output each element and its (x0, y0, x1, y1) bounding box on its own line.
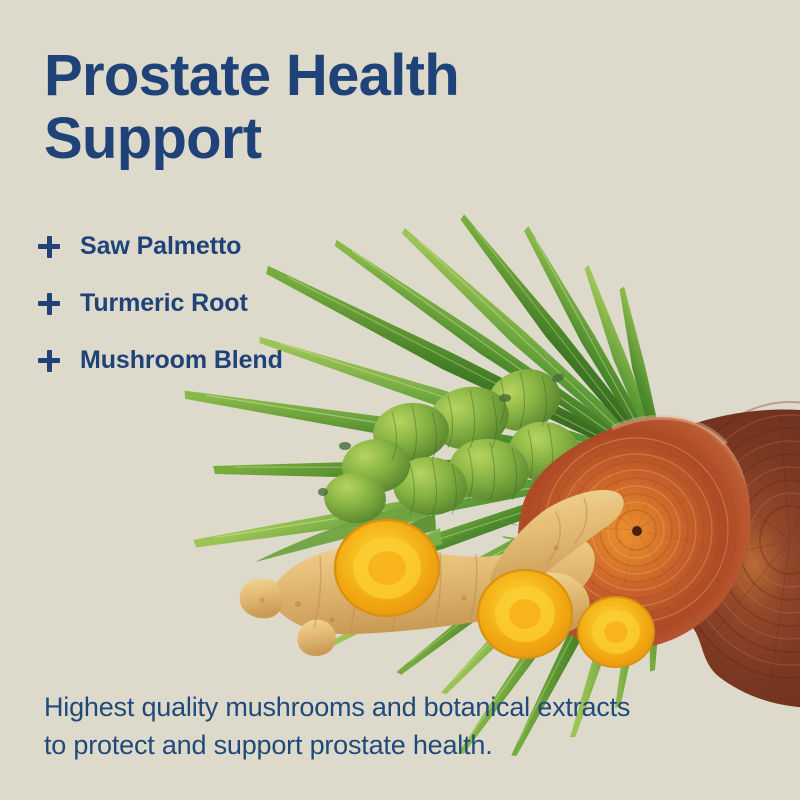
plus-icon (36, 291, 62, 317)
benefit-item-turmeric-root: Turmeric Root (36, 275, 283, 332)
product-poster: Prostate Health Support Saw Palmetto Tur… (0, 0, 800, 800)
footer-description: Highest quality mushrooms and botanical … (44, 688, 644, 765)
benefit-list: Saw Palmetto Turmeric Root Mushroom Blen… (36, 218, 283, 389)
benefit-item-saw-palmetto: Saw Palmetto (36, 218, 283, 275)
benefit-label: Saw Palmetto (80, 232, 241, 261)
page-title: Prostate Health Support (44, 44, 564, 170)
plus-icon (36, 348, 62, 374)
benefit-item-mushroom-blend: Mushroom Blend (36, 332, 283, 389)
benefit-label: Turmeric Root (80, 289, 248, 318)
benefit-label: Mushroom Blend (80, 346, 283, 375)
poster-content: Prostate Health Support Saw Palmetto Tur… (0, 0, 800, 800)
plus-icon (36, 234, 62, 260)
